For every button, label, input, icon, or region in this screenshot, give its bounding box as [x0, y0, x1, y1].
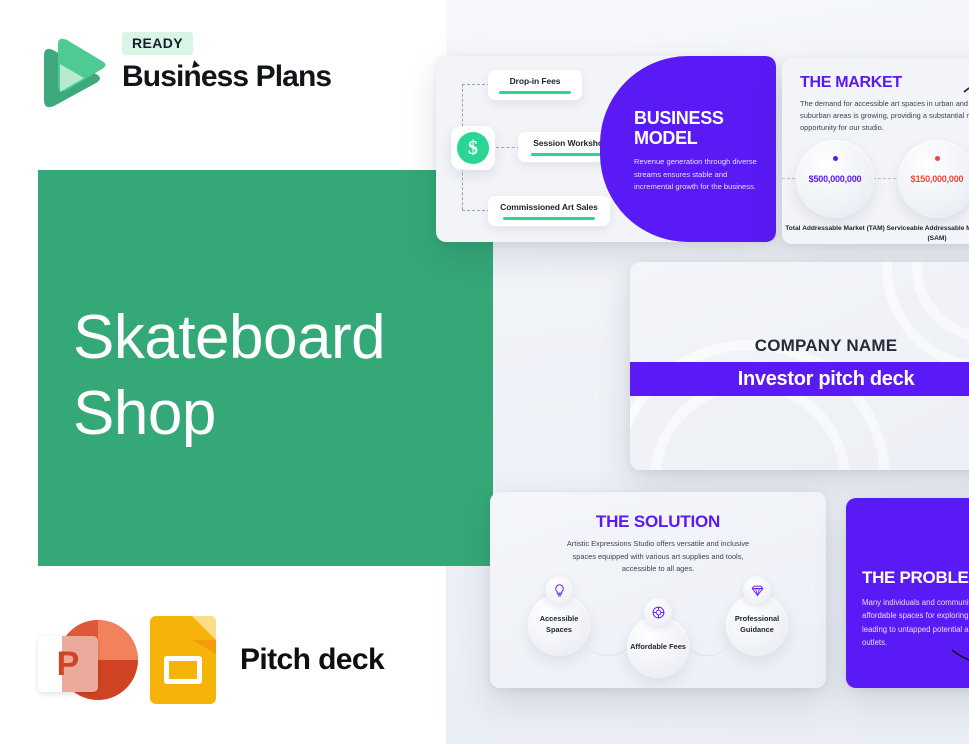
problem-title: THE PROBLEM: [862, 568, 969, 588]
brand-text-block: READY Business Plans: [122, 32, 331, 94]
ring-bottom-outer: [630, 340, 890, 470]
revenue-stream-item: Commissioned Art Sales: [488, 196, 610, 226]
market-body: The demand for accessible art spaces in …: [800, 98, 969, 135]
business-model-body: Revenue generation through diverse strea…: [634, 156, 762, 194]
business-model-title-line2: MODEL: [634, 128, 724, 148]
solution-node-label: Accessible Spaces: [528, 614, 590, 635]
diamond-icon: [743, 576, 771, 604]
target-icon: [644, 598, 672, 626]
slide-the-solution[interactable]: THE SOLUTION Artistic Expressions Studio…: [490, 492, 826, 688]
hero-title: Skateboard Shop: [73, 300, 385, 451]
market-metric-caption: Serviceable Addressable Market (SAM): [885, 224, 969, 244]
slides-screen: [164, 656, 202, 684]
connector-bottom: [462, 210, 490, 211]
format-footer: P Pitch deck: [38, 612, 384, 708]
brand-name-text: Business Plans: [122, 60, 331, 93]
slide-the-market[interactable]: THE MARKET The demand for accessible art…: [782, 58, 969, 244]
business-model-title-line1: BUSINESS: [634, 108, 724, 128]
revenue-stream-bar: [499, 91, 570, 94]
revenue-stream-bar: [503, 217, 596, 220]
slide-company-name[interactable]: COMPANY NAME Investor pitch deck: [630, 262, 969, 470]
market-metric-knob: $150,000,000: [898, 140, 969, 218]
business-model-panel: BUSINESS MODEL Revenue generation throug…: [600, 56, 776, 242]
brand-logo: READY Business Plans: [38, 32, 338, 112]
slide-the-problem[interactable]: THE PROBLEM Many individuals and communi…: [846, 498, 969, 688]
lightbulb-icon: [545, 576, 573, 604]
revenue-stream-label: Commissioned Art Sales: [500, 202, 598, 212]
footer-label: Pitch deck: [240, 643, 384, 677]
google-slides-icon: [150, 616, 216, 704]
market-metric-value: $500,000,000: [809, 174, 862, 184]
solution-title: THE SOLUTION: [490, 512, 826, 532]
market-title: THE MARKET: [800, 74, 902, 92]
hero-title-line1: Skateboard: [73, 300, 385, 376]
revenue-stream-item: Drop-in Fees: [488, 70, 582, 100]
business-model-hub: $: [451, 126, 495, 170]
brand-name: Business Plans: [122, 60, 331, 94]
play-triangle-logo-icon: [38, 36, 108, 108]
solution-body: Artistic Expressions Studio offers versa…: [558, 538, 758, 576]
powerpoint-tile-overlay: [62, 636, 98, 692]
problem-body: Many individuals and communities lack ac…: [862, 596, 969, 649]
curved-arrow-icon: [950, 646, 969, 672]
curved-arrow-icon: [962, 78, 969, 120]
solution-connector: [584, 634, 632, 656]
company-subtitle: Investor pitch deck: [738, 368, 915, 391]
market-metric-knob: $500,000,000: [796, 140, 874, 218]
promo-canvas: READY Business Plans Skateboard Shop P P…: [0, 0, 969, 744]
dollar-sign-icon: $: [457, 132, 489, 164]
ready-badge: READY: [122, 32, 193, 55]
microsoft-powerpoint-icon: P: [38, 614, 130, 706]
company-name: COMPANY NAME: [630, 336, 969, 356]
business-model-title: BUSINESS MODEL: [634, 108, 724, 148]
market-metric-dot: [833, 156, 838, 161]
solution-node-label: Affordable Fees: [630, 642, 686, 653]
hero-title-line2: Shop: [73, 376, 385, 452]
connector-middle: [496, 147, 520, 148]
revenue-stream-label: Drop-in Fees: [510, 76, 561, 86]
market-metric-dot: [935, 156, 940, 161]
market-metric-caption: Total Addressable Market (TAM): [783, 224, 887, 234]
solution-node-label: Professional Guidance: [726, 614, 788, 635]
slide-business-model[interactable]: $ Drop-in Fees Session Workshops Commiss…: [436, 56, 776, 242]
solution-connector: [683, 634, 731, 656]
company-subtitle-band: Investor pitch deck: [630, 362, 969, 396]
market-metric-value: $150,000,000: [911, 174, 964, 184]
connector-top: [462, 84, 490, 85]
